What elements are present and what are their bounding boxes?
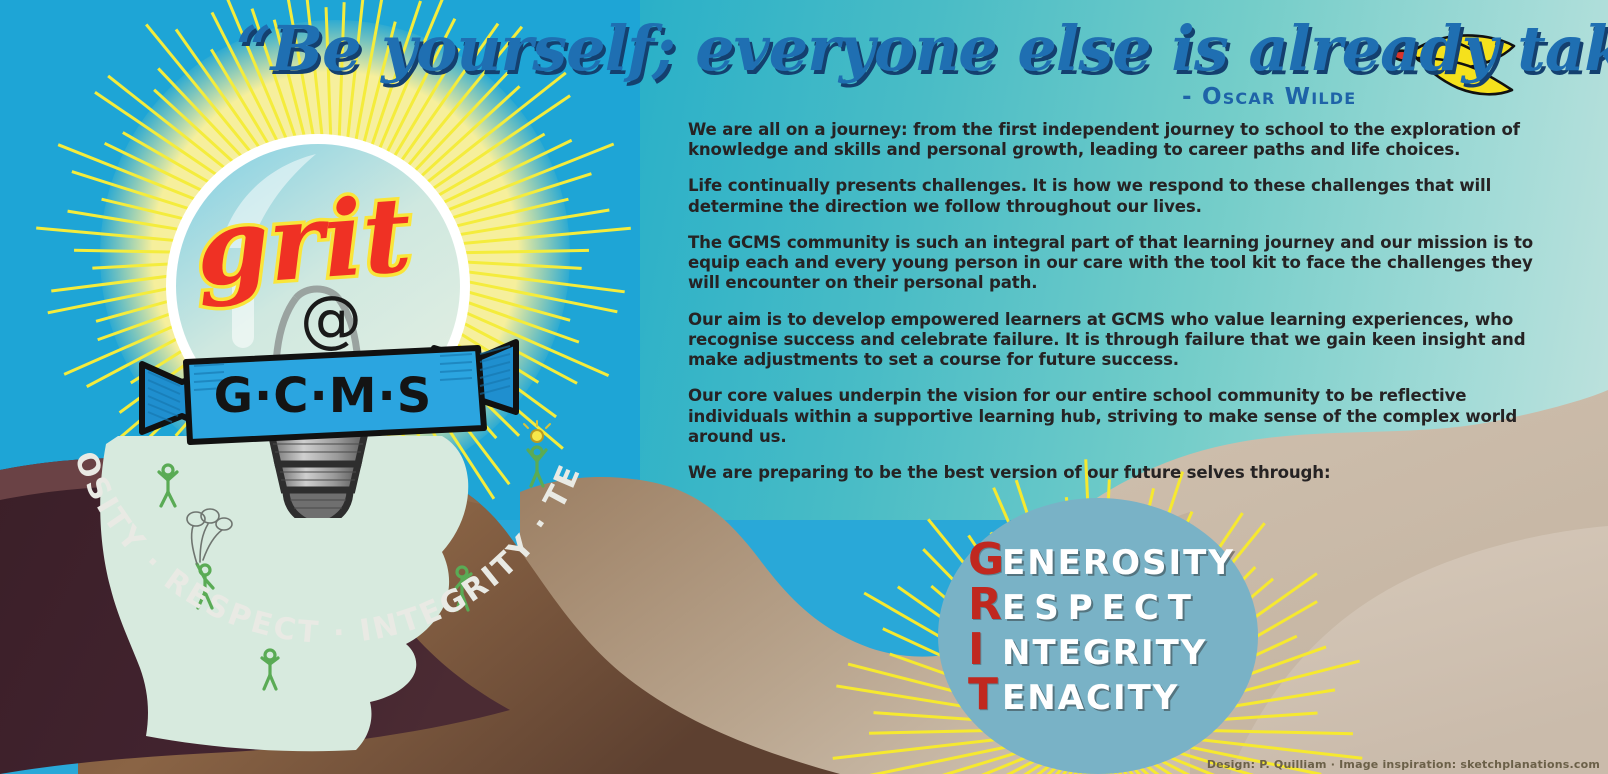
grit-acronym-row: TENACITY: [968, 669, 1235, 714]
values-ring-text: · GENEROSITY · RESPECT · INTEGRITY · TEN…: [42, 452, 602, 774]
body-copy: We are all on a journey: from the first …: [688, 120, 1536, 483]
grit-acronym-list: GENEROSITYRESPECTINTEGRITYTENACITY: [968, 534, 1235, 714]
design-credit: Design: P. Quilliam · Image inspiration:…: [1207, 758, 1600, 771]
quote-attribution: - Oscar Wilde: [1182, 84, 1356, 110]
grit-acronym-word: NTEGRITY: [1002, 633, 1207, 673]
body-paragraph: We are all on a journey: from the first …: [688, 120, 1536, 160]
body-paragraph: Our aim is to develop empowered learners…: [688, 310, 1536, 371]
hero-quote: “Be yourself; everyone else is already t…: [236, 12, 1356, 85]
grit-acronym-row: GENEROSITY: [968, 534, 1235, 579]
grit-acronym-initial: I: [968, 624, 1002, 675]
grit-acronym-row: INTEGRITY: [968, 624, 1235, 669]
poster-canvas: · GENEROSITY · RESPECT · INTEGRITY · TEN…: [0, 0, 1608, 774]
values-ring-label: · GENEROSITY · RESPECT · INTEGRITY · TEN…: [42, 452, 589, 651]
grit-acronym-row: RESPECT: [968, 579, 1235, 624]
grit-acronym-initial: G: [968, 534, 1002, 585]
body-paragraph: Our core values underpin the vision for …: [688, 386, 1536, 447]
grit-acronym-initial: R: [968, 579, 1002, 630]
body-paragraph: We are preparing to be the best version …: [688, 463, 1536, 483]
body-paragraph: Life continually presents challenges. It…: [688, 176, 1536, 216]
body-paragraph: The GCMS community is such an integral p…: [688, 233, 1536, 294]
grit-acronym-word: ENEROSITY: [1002, 543, 1235, 583]
grit-acronym-word: ESPECT: [1002, 588, 1200, 628]
grit-acronym-initial: T: [968, 669, 1002, 720]
grit-acronym-word: ENACITY: [1002, 678, 1179, 718]
